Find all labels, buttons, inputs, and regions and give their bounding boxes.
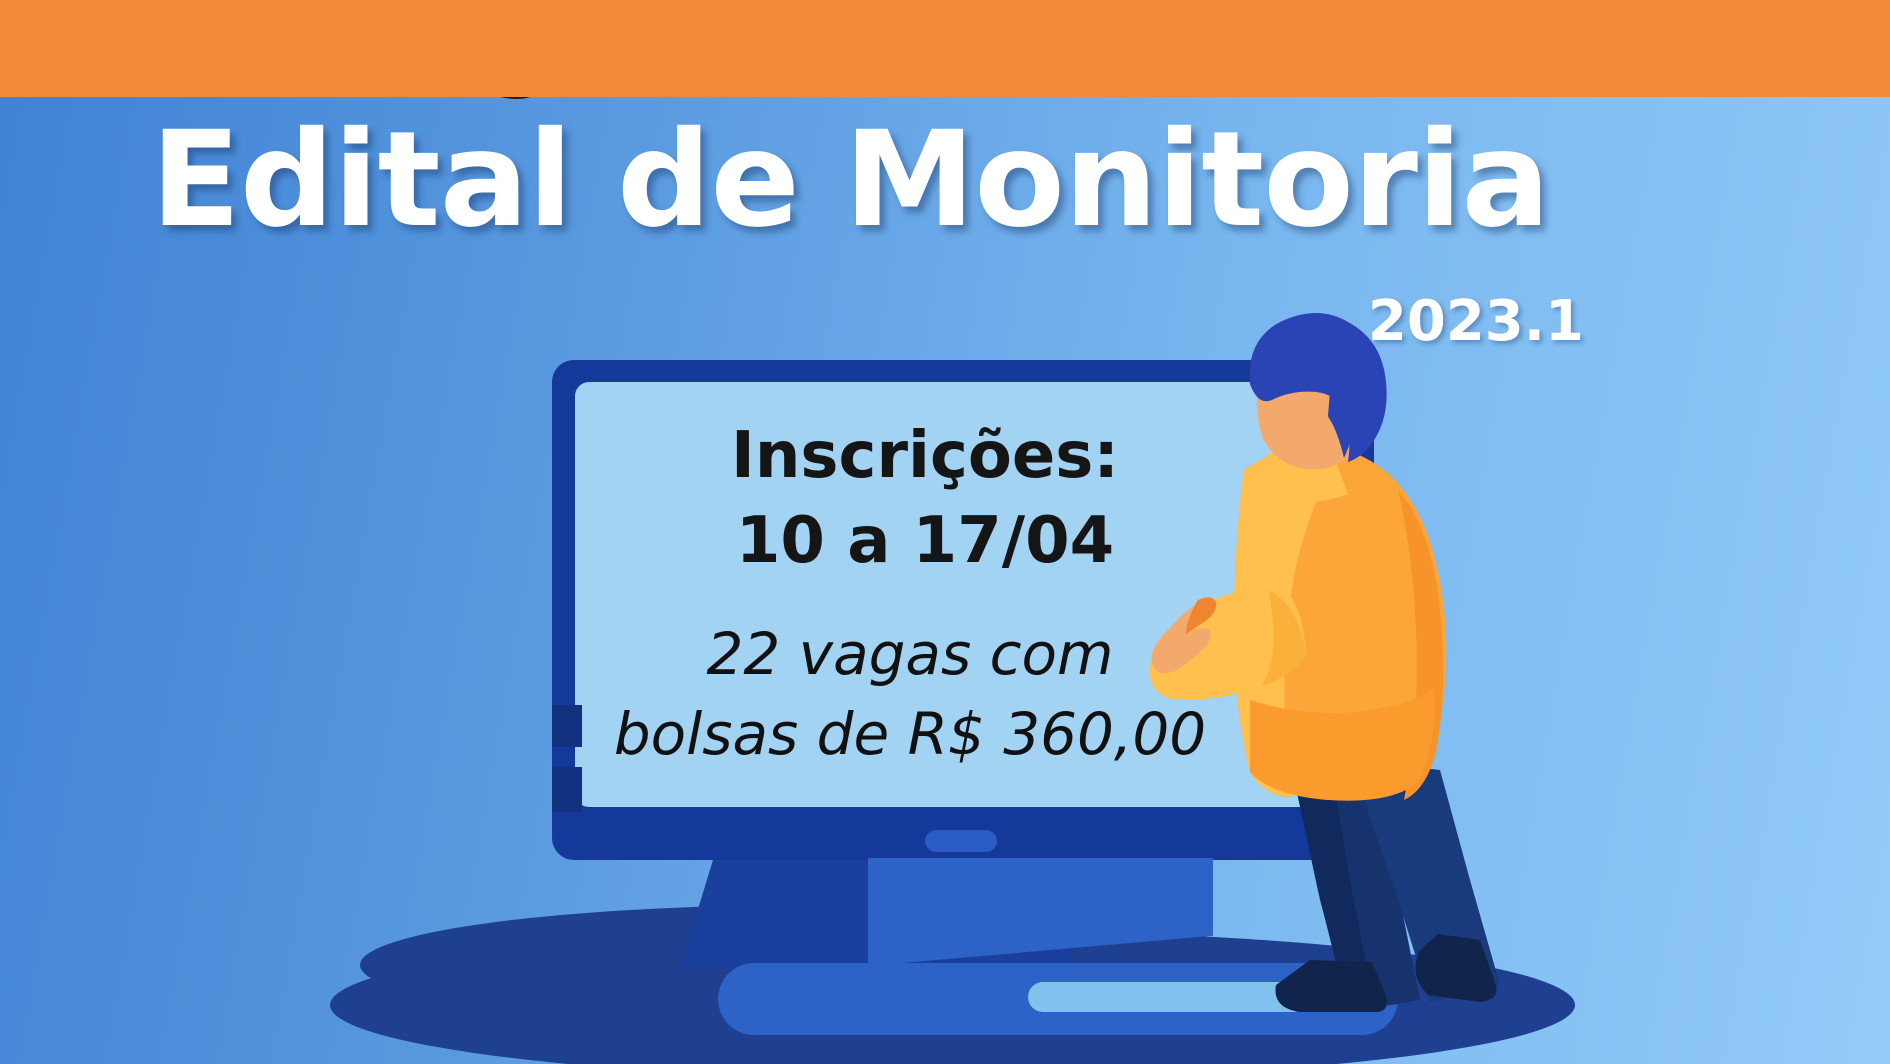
year-label: 2023.1	[0, 292, 1584, 352]
screen-dates: 10 a 17/04	[575, 505, 1275, 577]
screen-detail-line-2: bolsas de R$ 360,00	[560, 700, 1260, 768]
page-title: Edital de Monitoria	[0, 105, 1700, 255]
screen-heading: Inscrições:	[575, 420, 1275, 492]
poster-canvas: Inscrições: 10 a 17/04 22 vagas com bols…	[0, 0, 1890, 1064]
monitor-power-indicator	[925, 830, 997, 852]
screen-detail-line-1: 22 vagas com	[560, 620, 1260, 688]
monitor-bezel-notch-lower	[552, 767, 582, 812]
top-banner	[0, 0, 1890, 97]
monitor-stand-base-highlight	[1028, 982, 1308, 1012]
